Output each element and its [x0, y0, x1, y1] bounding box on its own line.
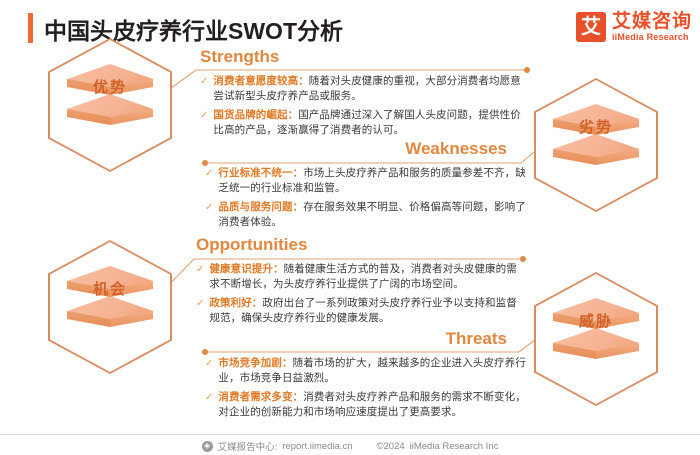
list-item: ✓ 消费者需求多变：消费者对头皮疗养产品和服务的需求不断变化，对企业的创新能力和…: [205, 390, 535, 420]
hex-badge-threats[interactable]: 威胁: [534, 272, 658, 406]
hex-label-weaknesses: 劣势: [534, 116, 658, 137]
item-label: 行业标准不统一：: [218, 167, 303, 179]
item-label: 消费者意愿度较高：: [213, 75, 308, 87]
item-text: 行业标准不统一：市场上头皮疗养产品和服务的质量参差不齐，缺乏统一的行业标准和监管…: [218, 166, 535, 196]
logo-name-cn: 艾媒咨询: [612, 12, 692, 31]
footer-company: iiMedia Research Inc: [410, 441, 499, 452]
item-label: 市场竞争加剧：: [218, 357, 292, 369]
item-text: 市场竞争加剧：随着市场的扩大，越来越多的企业进入头皮疗养行业，市场竞争日益激烈。: [218, 356, 535, 386]
section-weaknesses: Weaknesses ✓ 行业标准不统一：市场上头皮疗养产品和服务的质量参差不齐…: [205, 140, 535, 234]
footer-url[interactable]: report.iimedia.cn: [282, 441, 352, 452]
swot-infographic: 中国头皮疗养行业SWOT分析 艾 艾媒咨询 iiMedia Research: [0, 0, 700, 455]
check-icon: ✓: [196, 296, 204, 311]
section-heading-strengths: Strengths: [200, 48, 530, 65]
list-item: ✓ 市场竞争加剧：随着市场的扩大，越来越多的企业进入头皮疗养行业，市场竞争日益激…: [205, 356, 535, 386]
check-icon: ✓: [200, 108, 208, 123]
brand-logo: 艾 艾媒咨询 iiMedia Research: [576, 10, 692, 44]
item-text: 国货品牌的崛起：国产品牌通过深入了解国人头皮问题，提供性价比高的产品，逐渐赢得了…: [213, 108, 530, 138]
check-icon: ✓: [205, 356, 213, 371]
hex-badge-strengths[interactable]: 优势: [48, 38, 172, 172]
item-label: 国货品牌的崛起：: [213, 109, 298, 121]
hex-label-strengths: 优势: [48, 76, 172, 97]
section-heading-threats: Threats: [205, 330, 535, 347]
list-item: ✓ 健康意识提升：随着健康生活方式的普及，消费者对头皮健康的需求不断增长，为头皮…: [196, 262, 526, 292]
logo-name-en: iiMedia Research: [612, 33, 692, 42]
check-icon: ✓: [205, 390, 213, 405]
item-label: 政策利好：: [209, 297, 262, 309]
item-list-weaknesses: ✓ 行业标准不统一：市场上头皮疗养产品和服务的质量参差不齐，缺乏统一的行业标准和…: [205, 166, 535, 230]
item-list-threats: ✓ 市场竞争加剧：随着市场的扩大，越来越多的企业进入头皮疗养行业，市场竞争日益激…: [205, 356, 535, 420]
item-text: 消费者需求多变：消费者对头皮疗养产品和服务的需求不断变化，对企业的创新能力和市场…: [218, 390, 535, 420]
list-item: ✓ 行业标准不统一：市场上头皮疗养产品和服务的质量参差不齐，缺乏统一的行业标准和…: [205, 166, 535, 196]
item-list-opportunities: ✓ 健康意识提升：随着健康生活方式的普及，消费者对头皮健康的需求不断增长，为头皮…: [196, 262, 526, 326]
section-opportunities: Opportunities ✓ 健康意识提升：随着健康生活方式的普及，消费者对头…: [196, 236, 526, 330]
hex-label-threats: 威胁: [534, 310, 658, 331]
logo-text: 艾媒咨询 iiMedia Research: [612, 12, 692, 42]
list-item: ✓ 政策利好：政府出台了一系列政策对头皮疗养行业予以支持和监督规范，确保头皮疗养…: [196, 296, 526, 326]
list-item: ✓ 品质与服务问题：存在服务效果不明显、价格偏高等问题，影响了消费者体验。: [205, 200, 535, 230]
hex-badge-weaknesses[interactable]: 劣势: [534, 78, 658, 212]
section-heading-weaknesses: Weaknesses: [205, 140, 535, 157]
title-accent-bar: [28, 13, 33, 43]
item-label: 健康意识提升：: [209, 263, 283, 275]
section-strengths: Strengths ✓ 消费者意愿度较高：随着对头皮健康的重视，大部分消费者均愿…: [200, 48, 530, 142]
list-item: ✓ 国货品牌的崛起：国产品牌通过深入了解国人头皮问题，提供性价比高的产品，逐渐赢…: [200, 108, 530, 138]
globe-icon: ◈: [202, 441, 213, 452]
item-label: 消费者需求多变：: [218, 391, 303, 403]
section-threats: Threats ✓ 市场竞争加剧：随着市场的扩大，越来越多的企业进入头皮疗养行业…: [205, 330, 535, 424]
footer: ◈ 艾媒报告中心: report.iimedia.cn ©2024 iiMedi…: [0, 437, 700, 455]
hex-label-opportunities: 机会: [48, 278, 172, 299]
item-text: 品质与服务问题：存在服务效果不明显、价格偏高等问题，影响了消费者体验。: [218, 200, 535, 230]
item-text: 政策利好：政府出台了一系列政策对头皮疗养行业予以支持和监督规范，确保头皮疗养行业…: [209, 296, 526, 326]
check-icon: ✓: [205, 200, 213, 215]
item-text: 健康意识提升：随着健康生活方式的普及，消费者对头皮健康的需求不断增长，为头皮疗养…: [209, 262, 526, 292]
list-item: ✓ 消费者意愿度较高：随着对头皮健康的重视，大部分消费者均愿意尝试新型头皮疗养产…: [200, 74, 530, 104]
check-icon: ✓: [200, 74, 208, 89]
check-icon: ✓: [196, 262, 204, 277]
item-list-strengths: ✓ 消费者意愿度较高：随着对头皮健康的重视，大部分消费者均愿意尝试新型头皮疗养产…: [200, 74, 530, 138]
check-icon: ✓: [205, 166, 213, 181]
item-text: 消费者意愿度较高：随着对头皮健康的重视，大部分消费者均愿意尝试新型头皮疗养产品或…: [213, 74, 530, 104]
item-label: 品质与服务问题：: [218, 201, 303, 213]
hex-badge-opportunities[interactable]: 机会: [48, 240, 172, 374]
footer-divider: [0, 434, 700, 435]
logo-mark-icon: 艾: [576, 12, 606, 42]
footer-copyright: ©2024: [377, 441, 405, 452]
section-heading-opportunities: Opportunities: [196, 236, 526, 253]
footer-source-label: 艾媒报告中心:: [218, 439, 278, 453]
